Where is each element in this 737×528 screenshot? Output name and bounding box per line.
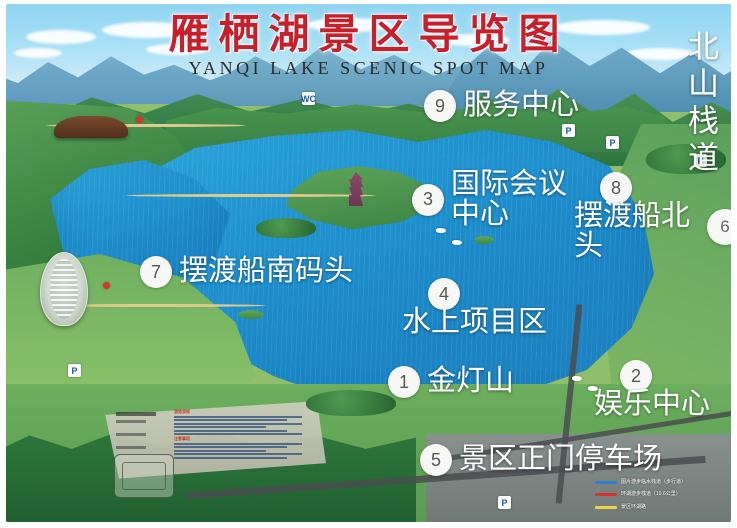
notice-line: [116, 420, 146, 423]
marker-badge-3[interactable]: 3: [412, 184, 444, 216]
info-text-line: [174, 426, 266, 428]
map-poster[interactable]: WC P P P P P 雁栖湖景区导览图 YANQI LAKE SCENIC …: [6, 4, 731, 522]
info-text-line: [174, 457, 287, 459]
parking-icon[interactable]: P: [68, 364, 81, 377]
marker-label-entertainment-center: 娱乐中心: [594, 390, 710, 420]
cloud-shape: [26, 30, 96, 44]
marker-label-international-conference-center: 国际会议 中心: [451, 170, 567, 229]
notice-heading-bar: [116, 412, 156, 416]
marker-label-service-center: 服务中心: [463, 91, 579, 121]
legend-swatch-yellow: [595, 506, 617, 509]
marker-label-north-ferry-dock: 摆渡船北 头: [574, 202, 690, 261]
marker-north-ferry-dock[interactable]: 8 摆渡船北 头: [574, 172, 690, 261]
legend-swatch-blue: [595, 481, 617, 484]
info-text-line: [174, 419, 287, 421]
small-notice-block: [116, 412, 162, 459]
legend-label-1: 图片游步临水栈道（步行道）: [621, 479, 686, 487]
shell-hotel-building: [40, 252, 88, 326]
marker-service-center[interactable]: 9 服务中心: [424, 90, 579, 122]
tourist-information-panel: 游览须知 注意事项: [174, 410, 302, 461]
legend-row: 环湖游步栈道（10.6公里）: [595, 491, 727, 499]
info-text-line: [174, 430, 287, 432]
boat-marker: [452, 240, 462, 245]
marker-entertainment-center[interactable]: 2 娱乐中心: [594, 360, 710, 420]
marker-jindeng-mountain[interactable]: 1 金灯山: [388, 366, 514, 398]
marker-badge-9[interactable]: 9: [424, 90, 456, 122]
info-text-line: [174, 450, 266, 452]
legend-row: 图片游步临水栈道（步行道）: [595, 479, 727, 487]
legend-swatch-red: [595, 493, 617, 496]
cloud-shape: [436, 34, 510, 46]
cloud-shape: [14, 48, 62, 58]
marker-badge-5[interactable]: 5: [420, 444, 452, 476]
boat-marker: [572, 376, 582, 381]
marker-south-ferry-dock[interactable]: 7 摆渡船南码头: [140, 256, 353, 288]
marker-badge-1[interactable]: 1: [388, 366, 420, 398]
map-legend: 图片游步临水栈道（步行道） 环湖游步栈道（10.6公里） 景区环湖路: [595, 479, 727, 517]
cloud-shape: [554, 20, 650, 35]
info-text-line: [174, 416, 302, 418]
tree-cluster: [306, 390, 396, 416]
marker-main-gate-parking[interactable]: 5 景区正门停车场: [420, 444, 662, 476]
marker-international-conference-center[interactable]: 3 国际会议 中心: [412, 170, 567, 229]
parking-icon[interactable]: P: [562, 124, 575, 137]
notice-line: [116, 446, 146, 449]
landmark-dot: [136, 116, 143, 123]
info-heading-1: 游览须知: [174, 410, 302, 415]
marker-label-water-activity-area: 水上项目区: [402, 308, 547, 338]
tree-cluster: [256, 218, 316, 238]
legend-label-2: 环湖游步栈道（10.6公里）: [621, 491, 681, 499]
landmark-dot: [103, 282, 110, 289]
marker-label-south-ferry-dock: 摆渡船南码头: [179, 257, 353, 287]
cloud-shape: [146, 44, 206, 55]
parking-icon[interactable]: P: [498, 496, 511, 509]
info-heading-2: 注意事项: [174, 437, 302, 442]
info-text-line: [174, 453, 302, 455]
scenic-map-screenshot: WC P P P P P 雁栖湖景区导览图 YANQI LAKE SCENIC …: [0, 0, 737, 528]
info-text-line: [174, 443, 302, 445]
stadium-outline-graphic: [114, 454, 174, 498]
marker-label-main-gate-parking: 景区正门停车场: [459, 445, 662, 475]
hilltop-pavilion: [54, 116, 128, 138]
small-island: [238, 310, 264, 319]
marker-water-activity-area[interactable]: 4 水上项目区: [402, 278, 547, 338]
info-text-line: [174, 423, 302, 425]
info-text-line: [174, 446, 287, 448]
marker-label-jindeng-mountain: 金灯山: [427, 367, 514, 397]
restroom-icon[interactable]: WC: [302, 92, 315, 105]
parking-icon[interactable]: P: [606, 136, 619, 149]
cloud-shape: [306, 18, 392, 32]
small-island: [474, 236, 494, 244]
north-mountain-trail-label: 北山栈道: [678, 30, 723, 178]
info-text-line: [174, 433, 302, 435]
legend-row: 景区环湖路: [595, 504, 727, 512]
scenic-trail: [126, 194, 376, 197]
notice-line: [116, 433, 146, 436]
cloud-shape: [102, 22, 194, 38]
marker-badge-7[interactable]: 7: [140, 256, 172, 288]
legend-label-3: 景区环湖路: [621, 504, 646, 512]
